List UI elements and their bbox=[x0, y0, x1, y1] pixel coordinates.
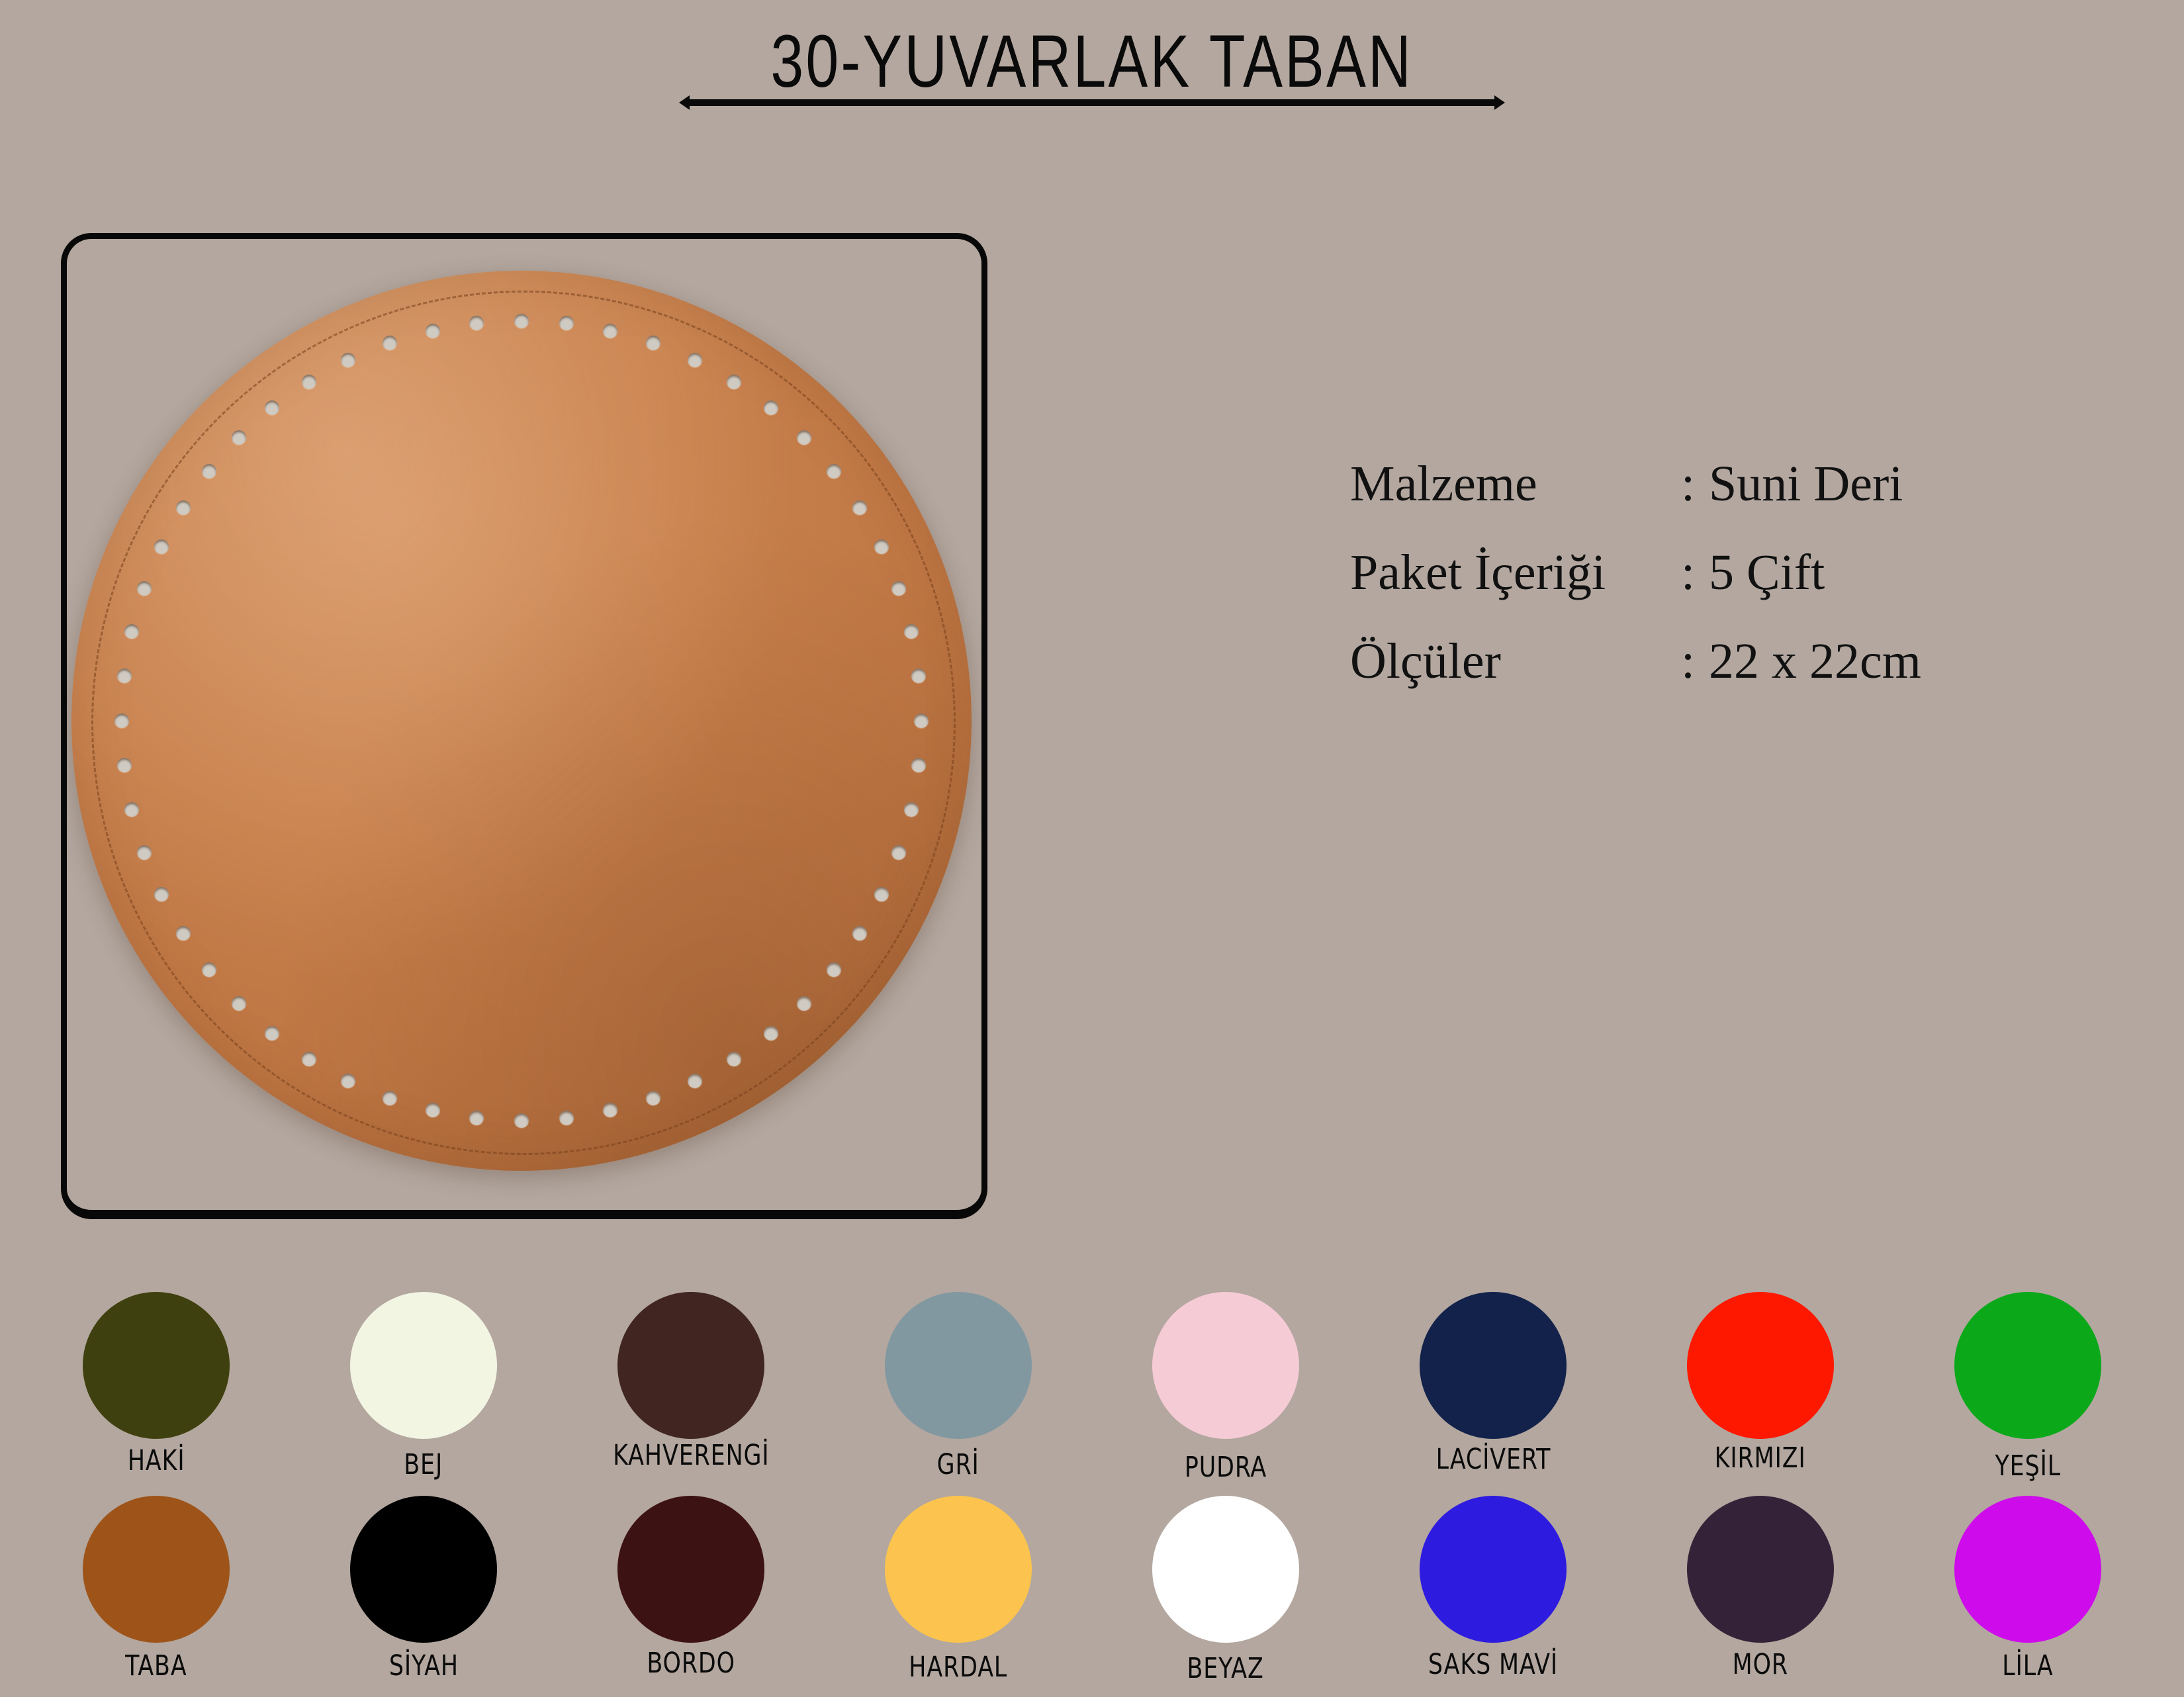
stitch-ring bbox=[91, 291, 956, 1155]
swatch-label: BEJ bbox=[404, 1448, 443, 1481]
color-swatch-yeşi̇l[interactable]: YEŞİL bbox=[1909, 1292, 2147, 1484]
punch-hole bbox=[764, 400, 778, 415]
color-swatch-bordo[interactable]: BORDO bbox=[572, 1496, 810, 1685]
punch-hole bbox=[265, 400, 279, 415]
swatch-dot[interactable] bbox=[1420, 1292, 1567, 1439]
swatch-label: BORDO bbox=[647, 1647, 735, 1680]
punch-hole bbox=[914, 713, 929, 728]
round-leather-base bbox=[71, 271, 972, 1171]
punch-hole bbox=[904, 802, 919, 817]
swatch-label: PUDRA bbox=[1185, 1451, 1267, 1484]
punch-hole bbox=[117, 758, 132, 772]
punch-hole bbox=[383, 336, 397, 350]
title-underline-wrap bbox=[0, 99, 2184, 106]
page-title: 30-YUVARLAK TABAN bbox=[771, 23, 1414, 101]
color-swatch-mor[interactable]: MOR bbox=[1641, 1496, 1880, 1685]
swatch-dot[interactable] bbox=[1954, 1292, 2101, 1439]
swatch-dot[interactable] bbox=[83, 1496, 230, 1643]
punch-hole bbox=[117, 668, 132, 683]
swatch-dot[interactable] bbox=[1420, 1496, 1567, 1643]
swatch-label: MOR bbox=[1733, 1648, 1788, 1681]
color-swatch-hardal[interactable]: HARDAL bbox=[839, 1496, 1077, 1685]
punch-hole bbox=[232, 996, 246, 1011]
color-swatch-gri̇[interactable]: GRİ bbox=[839, 1292, 1077, 1484]
color-swatch-kirmizi[interactable]: KIRMIZI bbox=[1641, 1292, 1880, 1484]
punch-hole bbox=[469, 316, 484, 330]
punch-hole bbox=[911, 758, 926, 772]
punch-hole bbox=[852, 926, 867, 940]
color-swatch-bej[interactable]: BEJ bbox=[304, 1292, 543, 1484]
swatch-dot[interactable] bbox=[1152, 1292, 1299, 1439]
swatch-label: YEŞİL bbox=[1995, 1449, 2061, 1483]
punch-hole bbox=[797, 430, 811, 445]
spec-label-dimensions: Ölçüler bbox=[1350, 634, 1681, 688]
spec-colon-package: : bbox=[1681, 545, 1709, 600]
punch-hole bbox=[176, 500, 191, 515]
punch-hole bbox=[383, 1091, 397, 1105]
punch-hole bbox=[646, 336, 660, 350]
color-swatch-row-2: TABASİYAHBORDOHARDALBEYAZSAKS MAVİMORLİL… bbox=[0, 1496, 2184, 1685]
punch-hole bbox=[265, 1026, 279, 1040]
punch-hole bbox=[797, 996, 811, 1011]
swatch-label: SAKS MAVİ bbox=[1428, 1648, 1558, 1681]
swatch-label: GRİ bbox=[937, 1448, 979, 1481]
punch-hole bbox=[176, 926, 191, 940]
spec-label-material: Malzeme bbox=[1350, 457, 1681, 511]
punch-hole bbox=[426, 324, 440, 338]
punch-hole bbox=[852, 500, 867, 515]
punch-hole bbox=[874, 539, 889, 554]
punch-hole bbox=[154, 887, 169, 901]
punch-hole bbox=[559, 1111, 574, 1125]
product-spec-list: Malzeme : Suni Deri Paket İçeriği : 5 Çi… bbox=[1350, 457, 1921, 723]
punch-hole bbox=[426, 1103, 440, 1117]
spec-row-package: Paket İçeriği : 5 Çift bbox=[1350, 545, 1921, 600]
punch-hole bbox=[904, 624, 919, 639]
swatch-dot[interactable] bbox=[1687, 1292, 1834, 1439]
punch-hole bbox=[124, 624, 139, 639]
spec-value-package: 5 Çift bbox=[1709, 545, 1825, 600]
punch-hole bbox=[603, 1103, 617, 1117]
swatch-dot[interactable] bbox=[617, 1292, 764, 1439]
punch-hole bbox=[202, 464, 216, 479]
spec-row-dimensions: Ölçüler : 22 x 22cm bbox=[1350, 634, 1921, 688]
punch-hole bbox=[559, 316, 574, 330]
punch-hole bbox=[302, 1052, 316, 1066]
spec-colon-material: : bbox=[1681, 457, 1709, 511]
swatch-dot[interactable] bbox=[350, 1496, 497, 1643]
punch-hole bbox=[232, 430, 246, 445]
swatch-label: LİLA bbox=[2002, 1649, 2053, 1682]
punch-hole bbox=[302, 375, 316, 389]
color-swatch-si̇yah[interactable]: SİYAH bbox=[304, 1496, 543, 1685]
spec-colon-dimensions: : bbox=[1681, 634, 1709, 688]
punch-hole bbox=[514, 314, 529, 328]
swatch-dot[interactable] bbox=[885, 1496, 1032, 1643]
punch-hole bbox=[874, 887, 889, 901]
punch-hole bbox=[891, 845, 906, 860]
page-title-block: 30-YUVARLAK TABAN bbox=[0, 23, 2184, 101]
color-swatch-saks-mavi̇[interactable]: SAKS MAVİ bbox=[1374, 1496, 1612, 1685]
color-swatch-beyaz[interactable]: BEYAZ bbox=[1107, 1496, 1345, 1685]
swatch-dot[interactable] bbox=[1954, 1496, 2101, 1643]
punch-hole bbox=[341, 353, 355, 367]
color-swatch-li̇la[interactable]: LİLA bbox=[1909, 1496, 2147, 1685]
swatch-label: HAKİ bbox=[128, 1444, 185, 1477]
color-swatch-laci̇vert[interactable]: LACİVERT bbox=[1374, 1292, 1612, 1484]
swatch-label: KAHVERENGİ bbox=[613, 1439, 769, 1472]
swatch-label: HARDAL bbox=[909, 1651, 1008, 1684]
punch-hole bbox=[827, 962, 841, 977]
punch-hole bbox=[827, 464, 841, 479]
color-swatch-taba[interactable]: TABA bbox=[37, 1496, 275, 1685]
swatch-label: BEYAZ bbox=[1187, 1652, 1264, 1685]
color-swatch-grid: HAKİBEJKAHVERENGİGRİPUDRALACİVERTKIRMIZI… bbox=[0, 1292, 2184, 1697]
punch-hole bbox=[727, 1052, 741, 1066]
punch-hole bbox=[137, 845, 152, 860]
punch-hole bbox=[154, 539, 169, 554]
punch-hole bbox=[469, 1111, 484, 1125]
color-swatch-kahverengi̇[interactable]: KAHVERENGİ bbox=[572, 1292, 810, 1484]
punch-hole bbox=[202, 962, 216, 977]
punch-hole bbox=[514, 1113, 529, 1128]
swatch-dot[interactable] bbox=[83, 1292, 230, 1439]
product-photo-frame bbox=[61, 233, 987, 1219]
swatch-dot[interactable] bbox=[885, 1292, 1032, 1439]
swatch-label: LACİVERT bbox=[1435, 1443, 1551, 1476]
swatch-dot[interactable] bbox=[617, 1496, 764, 1643]
spec-label-package: Paket İçeriği bbox=[1350, 545, 1681, 600]
swatch-label: SİYAH bbox=[388, 1649, 458, 1682]
swatch-dot[interactable] bbox=[1687, 1496, 1834, 1643]
punch-hole bbox=[727, 375, 741, 389]
punch-hole bbox=[341, 1074, 355, 1088]
color-swatch-row-1: HAKİBEJKAHVERENGİGRİPUDRALACİVERTKIRMIZI… bbox=[0, 1292, 2184, 1484]
color-swatch-haki̇[interactable]: HAKİ bbox=[37, 1292, 275, 1484]
spec-value-dimensions: 22 x 22cm bbox=[1709, 634, 1921, 688]
punch-hole bbox=[124, 802, 139, 817]
swatch-dot[interactable] bbox=[1152, 1496, 1299, 1643]
punched-holes-layer bbox=[71, 271, 972, 1171]
punch-hole bbox=[688, 353, 702, 367]
swatch-label: TABA bbox=[125, 1649, 187, 1682]
punch-hole bbox=[688, 1074, 702, 1088]
punch-hole bbox=[911, 668, 926, 683]
spec-value-material: Suni Deri bbox=[1709, 457, 1903, 511]
punch-hole bbox=[764, 1026, 778, 1040]
punch-hole bbox=[891, 581, 906, 596]
color-swatch-pudra[interactable]: PUDRA bbox=[1107, 1292, 1345, 1484]
punch-hole bbox=[137, 581, 152, 596]
punch-hole bbox=[646, 1091, 660, 1105]
spec-row-material: Malzeme : Suni Deri bbox=[1350, 457, 1921, 511]
swatch-dot[interactable] bbox=[350, 1292, 497, 1439]
punch-hole bbox=[603, 324, 617, 338]
title-underline-rule bbox=[688, 99, 1496, 106]
swatch-label: KIRMIZI bbox=[1715, 1442, 1806, 1475]
punch-hole bbox=[114, 713, 129, 728]
